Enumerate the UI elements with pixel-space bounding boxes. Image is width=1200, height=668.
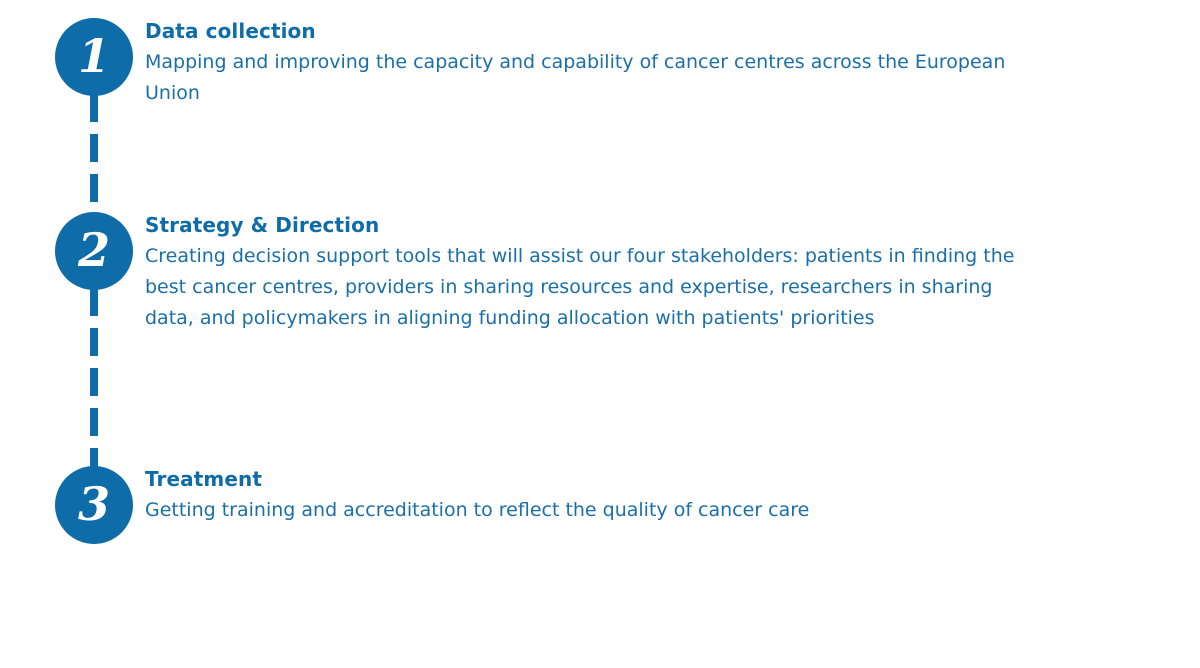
step-body-2: Creating decision support tools that wil… [145, 241, 1025, 334]
step-body-1: Mapping and improving the capacity and c… [145, 47, 1025, 109]
step-content-3: Treatment Getting training and accredita… [145, 466, 1035, 526]
step-title-1: Data collection [145, 18, 1035, 44]
step-title-3: Treatment [145, 466, 1035, 492]
step-title-2: Strategy & Direction [145, 212, 1035, 238]
step-number-3: 3 [78, 481, 110, 529]
step-marker-1: 1 [55, 18, 133, 96]
step-content-2: Strategy & Direction Creating decision s… [145, 212, 1035, 334]
timeline-connector-2-3 [90, 288, 98, 470]
step-number-2: 2 [78, 227, 110, 275]
timeline-connector-1-2 [90, 94, 98, 216]
step-content-1: Data collection Mapping and improving th… [145, 18, 1035, 109]
step-marker-2: 2 [55, 212, 133, 290]
timeline-infographic: 1 Data collection Mapping and improving … [0, 0, 1200, 668]
step-body-3: Getting training and accreditation to re… [145, 495, 1025, 526]
step-number-1: 1 [78, 33, 110, 81]
step-marker-3: 3 [55, 466, 133, 544]
